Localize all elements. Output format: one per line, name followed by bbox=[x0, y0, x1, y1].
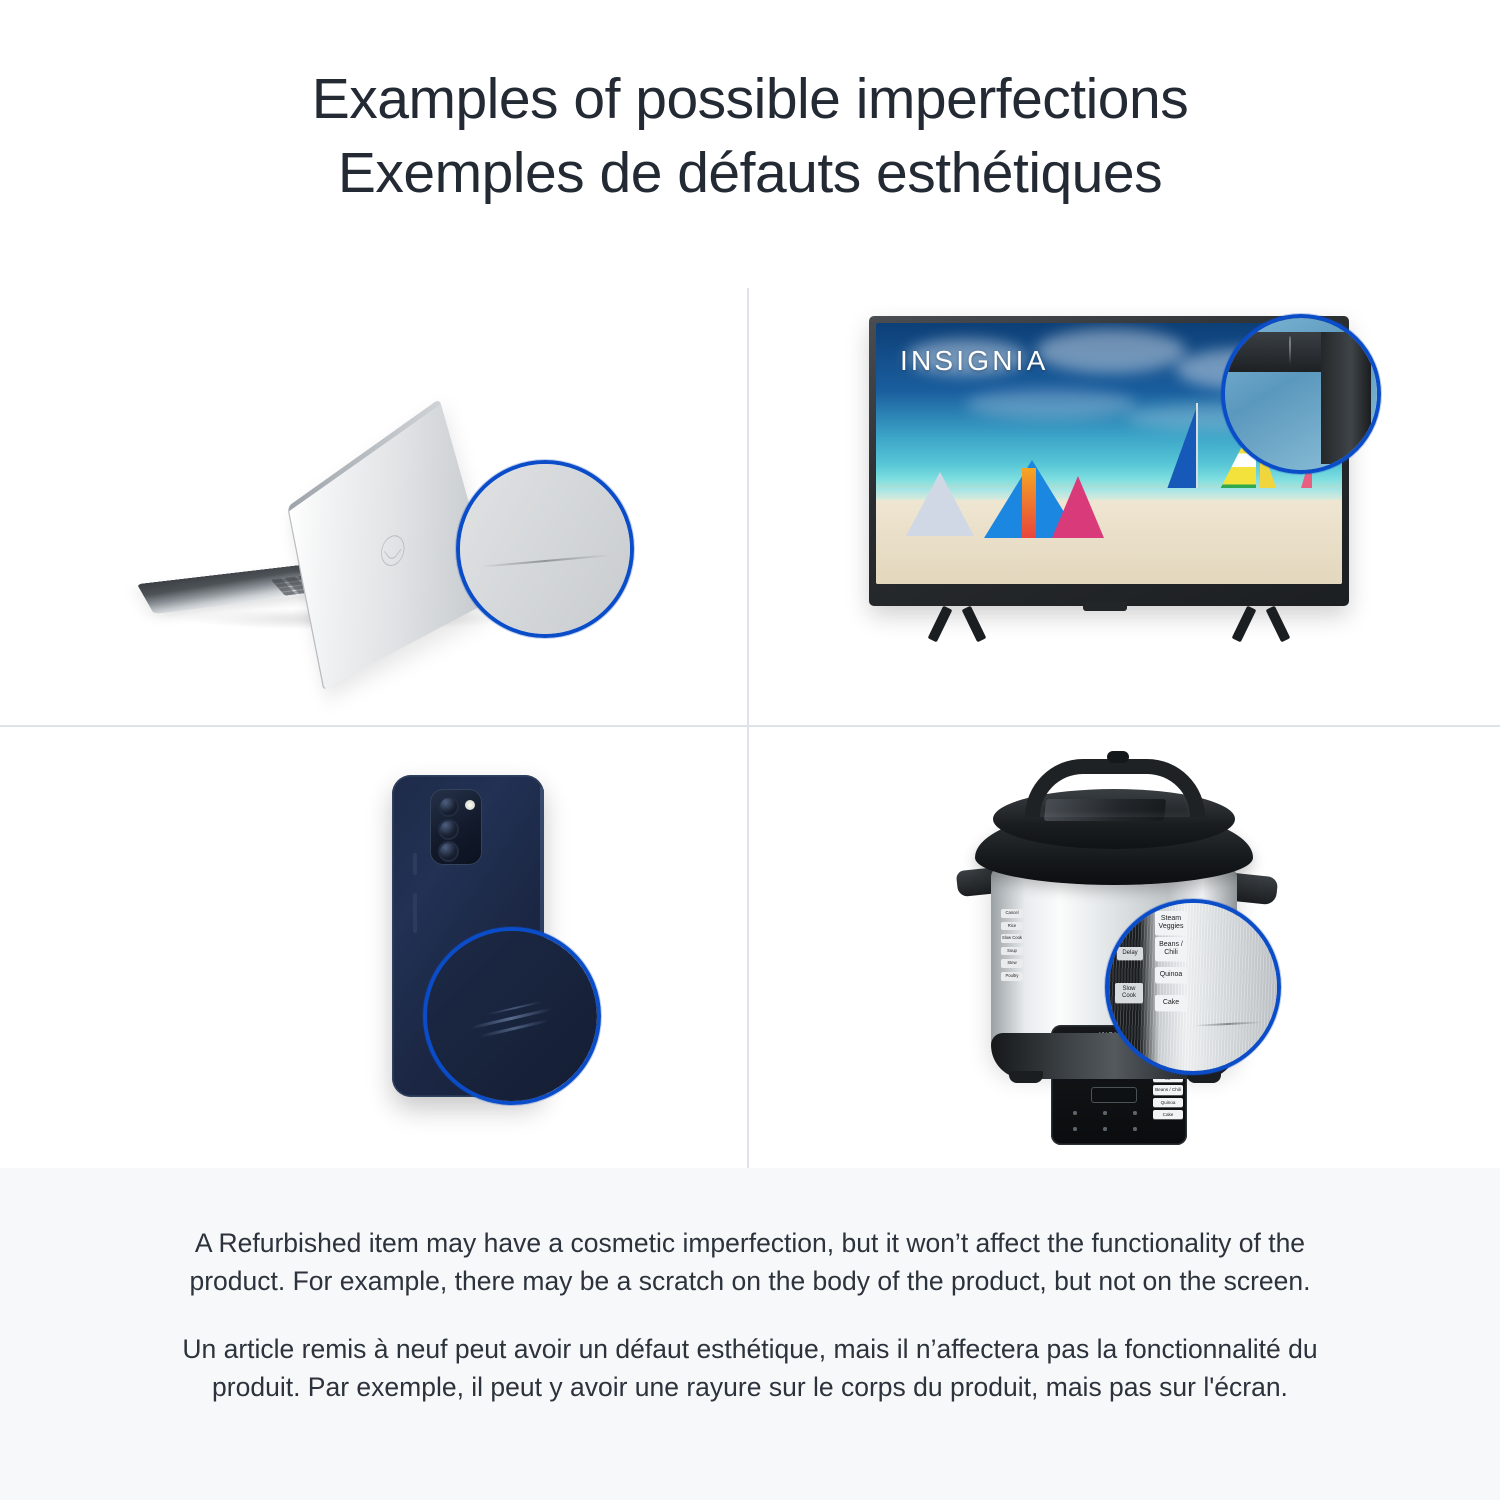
tv-screen-brand-logo: INSIGNIA bbox=[900, 345, 1049, 377]
beach-tent-white bbox=[906, 472, 974, 536]
laptop-lid-edge bbox=[288, 399, 441, 511]
phone-power-button bbox=[413, 893, 417, 933]
laptop-magnifier-content bbox=[460, 464, 630, 634]
cooker-mini-button[interactable] bbox=[1103, 1127, 1107, 1131]
cooker-button[interactable]: Cake bbox=[1153, 1110, 1183, 1119]
cooker-magnified-button[interactable]: Delay bbox=[1117, 947, 1143, 960]
tv-scratch-mark bbox=[1289, 336, 1291, 366]
beach-tent-orange bbox=[1022, 468, 1036, 538]
cell-laptop bbox=[0, 288, 747, 725]
camera-flash-icon bbox=[465, 800, 475, 810]
tv-stand-left bbox=[915, 606, 1001, 640]
cooker-magnified-button[interactable]: Slow Cook bbox=[1115, 983, 1143, 1003]
cooker-button[interactable]: Quinoa bbox=[1153, 1098, 1183, 1107]
disclaimer-text-fr: Un article remis à neuf peut avoir un dé… bbox=[150, 1330, 1350, 1406]
cooker-button[interactable]: Cancel bbox=[1001, 909, 1023, 918]
cell-smartphone bbox=[0, 727, 747, 1168]
tv-logo-badge bbox=[1083, 602, 1127, 611]
cooker-pressure-selector[interactable] bbox=[1091, 1087, 1137, 1103]
page-header: Examples of possible imperfections Exemp… bbox=[0, 0, 1500, 210]
cooker-lid-handle[interactable] bbox=[1025, 759, 1205, 817]
laptop-illustration bbox=[150, 358, 580, 658]
disclaimer-text-en: A Refurbished item may have a cosmetic i… bbox=[150, 1224, 1350, 1300]
cooker-magnified-button[interactable]: Cake bbox=[1155, 995, 1187, 1011]
cell-television: INSIGNIA bbox=[749, 288, 1500, 725]
phone-volume-button bbox=[413, 853, 417, 875]
cooker-button[interactable]: Poultry bbox=[1001, 972, 1023, 981]
cooker-mini-button[interactable] bbox=[1133, 1111, 1137, 1115]
camera-lens-icon bbox=[438, 819, 459, 840]
tv-illustration: INSIGNIA bbox=[869, 316, 1369, 676]
cooker-button[interactable]: Soup bbox=[1001, 947, 1023, 956]
phone-illustration bbox=[368, 775, 588, 1135]
camera-lens-icon bbox=[438, 841, 459, 862]
cooker-mini-button[interactable] bbox=[1133, 1127, 1137, 1131]
cooker-button[interactable]: Rice bbox=[1001, 922, 1023, 931]
cooker-button[interactable]: Slow Cook bbox=[1001, 934, 1023, 943]
cooker-left-button-column: Cancel Rice Slow Cook Soup Stew Poultry bbox=[1001, 909, 1023, 981]
page-title-fr: Exemples de défauts esthétiques bbox=[0, 136, 1500, 210]
product-examples-grid: INSIGNIA bbox=[0, 288, 1500, 1168]
tv-stand-right bbox=[1219, 606, 1305, 640]
cooker-magnified-button[interactable]: Beans / Chili bbox=[1155, 937, 1187, 961]
cooker-foot bbox=[1009, 1071, 1043, 1083]
cooker-defect-magnifier: Steam Veggies Beans / Chili Quinoa Cake … bbox=[1105, 899, 1281, 1075]
cloud-shape bbox=[1036, 329, 1186, 373]
cooker-mini-button[interactable] bbox=[1073, 1127, 1077, 1131]
cooker-steam-valve-icon bbox=[1107, 751, 1129, 763]
cooker-magnified-button[interactable]: Steam Veggies bbox=[1155, 911, 1187, 935]
cell-pressure-cooker: INSIGNIA 8:00 Start bbox=[749, 727, 1500, 1168]
cooker-mini-button[interactable] bbox=[1073, 1111, 1077, 1115]
page-title-en: Examples of possible imperfections bbox=[0, 62, 1500, 136]
laptop-defect-magnifier bbox=[456, 460, 634, 638]
tv-magnified-bezel-side bbox=[1321, 332, 1371, 464]
cloud-shape bbox=[966, 389, 1136, 419]
cooker-magnified-buttons: Steam Veggies Beans / Chili Quinoa Cake … bbox=[1115, 909, 1189, 1073]
phone-camera-module bbox=[430, 789, 482, 865]
pressure-cooker-illustration: INSIGNIA 8:00 Start bbox=[949, 749, 1309, 1129]
tv-defect-magnifier bbox=[1221, 314, 1381, 474]
cooker-button[interactable]: Beans / Chili bbox=[1153, 1085, 1183, 1094]
camera-lens-icon bbox=[438, 796, 459, 817]
cooker-button[interactable]: Stew bbox=[1001, 959, 1023, 968]
cooker-mini-button[interactable] bbox=[1103, 1111, 1107, 1115]
cooker-magnified-button[interactable]: Quinoa bbox=[1155, 967, 1187, 983]
phone-defect-magnifier bbox=[423, 927, 601, 1105]
laptop-logo-icon bbox=[378, 530, 407, 571]
beach-tent-magenta bbox=[1052, 476, 1104, 538]
disclaimer-panel: A Refurbished item may have a cosmetic i… bbox=[0, 1168, 1500, 1500]
